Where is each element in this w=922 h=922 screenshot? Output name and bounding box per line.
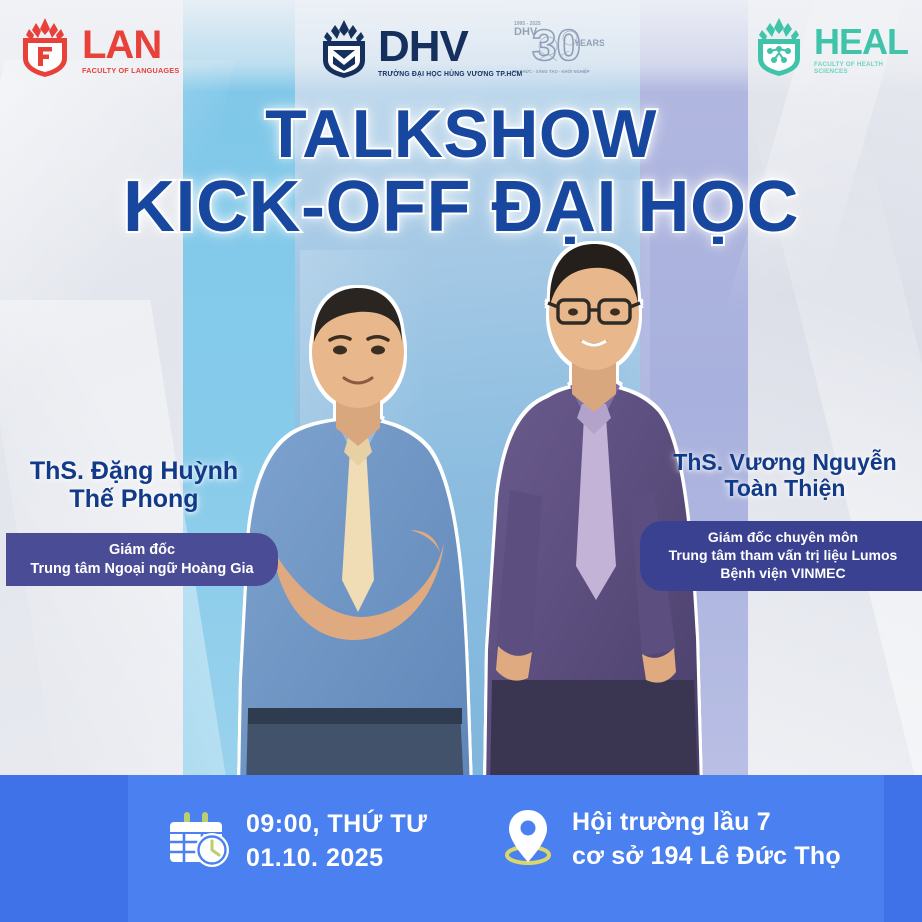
speaker-name-right: ThS. Vương Nguyễn Toàn Thiện bbox=[648, 450, 922, 502]
speaker-badge-left: Giám đốc Trung tâm Ngoại ngữ Hoàng Gia bbox=[6, 533, 278, 586]
footer-place-text: Hội trường lầu 7 cơ sở 194 Lê Đức Thọ bbox=[572, 806, 841, 874]
speaker-badge-right-line3: Bệnh viện VINMEC bbox=[654, 565, 912, 583]
speaker-name-right-line2: Toàn Thiện bbox=[648, 476, 922, 502]
footer-date-group: 09:00, THỨ TƯ 01.10. 2025 bbox=[168, 808, 427, 876]
poster-canvas: LAN FACULTY OF LANGUAGES bbox=[0, 0, 922, 922]
footer-place-line2: cơ sở 194 Lê Đức Thọ bbox=[572, 840, 841, 874]
footer-left-strip bbox=[0, 775, 128, 922]
speaker-badge-right-line2: Trung tâm tham vấn trị liệu Lumos bbox=[654, 547, 912, 565]
speaker-photos bbox=[0, 0, 922, 790]
footer-right-strip bbox=[884, 775, 922, 922]
speaker-photo-right bbox=[470, 230, 715, 790]
speaker-badge-right-line1: Giám đốc chuyên môn bbox=[654, 529, 912, 547]
speaker-name-left: ThS. Đặng Huỳnh Thế Phong bbox=[0, 457, 268, 513]
speaker-badge-left-line1: Giám đốc bbox=[20, 541, 264, 560]
speaker-badge-right: Giám đốc chuyên môn Trung tâm tham vấn t… bbox=[640, 521, 922, 591]
footer-date-text: 09:00, THỨ TƯ 01.10. 2025 bbox=[246, 808, 427, 876]
footer-place-line1: Hội trường lầu 7 bbox=[572, 806, 841, 840]
speaker-name-left-line1: ThS. Đặng Huỳnh bbox=[0, 457, 268, 485]
speaker-badge-left-line2: Trung tâm Ngoại ngữ Hoàng Gia bbox=[20, 560, 264, 579]
speaker-photo-left bbox=[232, 280, 482, 790]
calendar-clock-icon bbox=[168, 808, 230, 875]
footer-date-line2: 01.10. 2025 bbox=[246, 842, 427, 876]
speaker-name-left-line2: Thế Phong bbox=[0, 485, 268, 513]
footer-place-group: Hội trường lầu 7 cơ sở 194 Lê Đức Thọ bbox=[500, 806, 841, 874]
speaker-name-right-line1: ThS. Vương Nguyễn bbox=[648, 450, 922, 476]
footer-date-line1: 09:00, THỨ TƯ bbox=[246, 808, 427, 842]
map-pin-icon bbox=[500, 806, 556, 873]
